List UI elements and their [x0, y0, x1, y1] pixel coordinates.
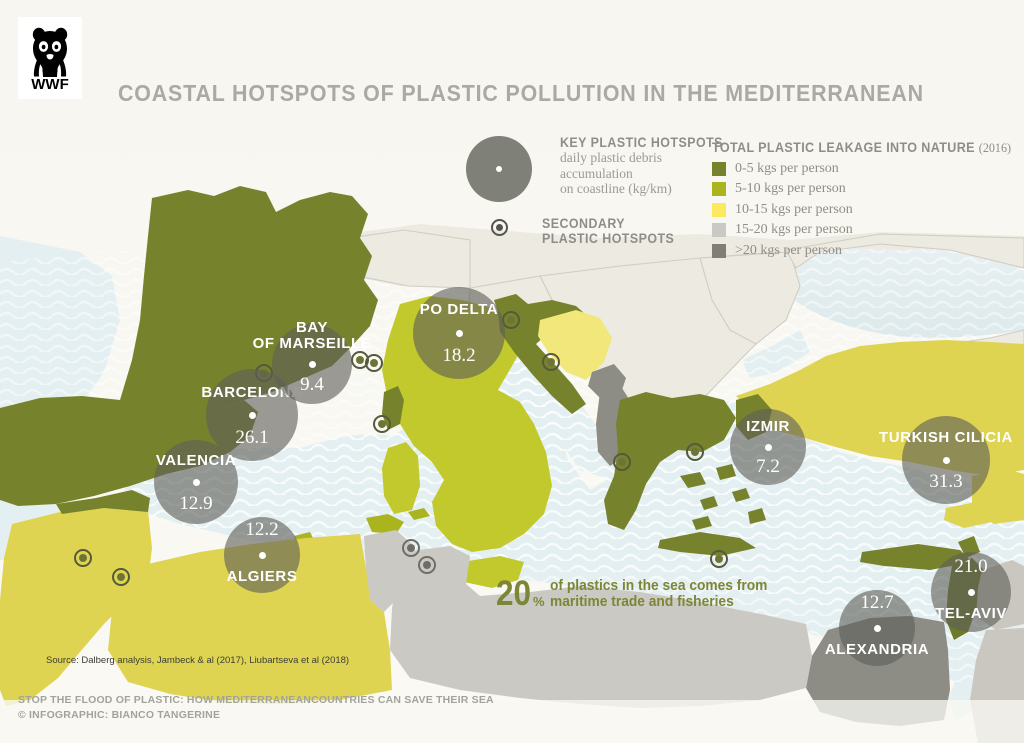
center-dot-icon — [496, 166, 502, 172]
dot-icon — [356, 356, 364, 364]
leakage-legend: TOTAL PLASTIC LEAKAGE INTO NATURE (2016)… — [712, 140, 1024, 259]
hotspot-label-line-2: OF MARSEILLE — [253, 335, 372, 352]
secondary-plastic-hotspot-icon — [491, 219, 508, 236]
hotspot-value: 7.2 — [756, 456, 780, 478]
hotspot-label: VALENCIA — [156, 453, 236, 469]
annotation-number: 20 — [496, 578, 531, 609]
dot-icon — [378, 420, 386, 428]
dot-icon — [547, 358, 555, 366]
hotspot-center-dot — [874, 625, 881, 632]
footer-credit-line: © INFOGRAPHIC: BIANCO TANGERINE — [18, 708, 494, 723]
dot-icon — [407, 544, 415, 552]
secondary-hotspot-marker[interactable] — [74, 549, 92, 567]
key-secondary-text: SECONDARY PLASTIC HOTSPOTS — [542, 216, 686, 246]
key-legend: KEY PLASTIC HOTSPOTS daily plastic debri… — [466, 132, 737, 246]
leakage-legend-year: (2016) — [979, 140, 1011, 155]
hotspot-label: TURKISH CILICIA — [879, 430, 1013, 446]
dot-icon — [507, 316, 515, 324]
secondary-hotspot-marker[interactable] — [402, 539, 420, 557]
leakage-legend-title-text: TOTAL PLASTIC LEAKAGE INTO NATURE — [712, 140, 975, 155]
hotspot-center-dot — [968, 589, 975, 596]
secondary-hotspot-marker[interactable] — [365, 354, 383, 372]
wwf-wordmark: WWF — [31, 76, 68, 91]
hotspot-label: TEL-AVIV — [935, 606, 1007, 622]
hotspot-center-dot — [765, 444, 772, 451]
dot-icon — [715, 555, 723, 563]
key-secondary-title-2: PLASTIC HOTSPOTS — [542, 231, 674, 246]
secondary-hotspot-marker[interactable] — [373, 415, 391, 433]
hotspot-value: 26.1 — [235, 427, 268, 449]
secondary-hotspot-marker[interactable] — [112, 568, 130, 586]
key-primary-desc-2: accumulation — [560, 167, 737, 182]
hotspot-center-dot — [309, 361, 316, 368]
key-primary-text: KEY PLASTIC HOTSPOTS daily plastic debri… — [560, 132, 737, 197]
hotspot-center-dot — [259, 552, 266, 559]
legend-swatch-15-20 — [712, 223, 726, 237]
key-primary-row: KEY PLASTIC HOTSPOTS daily plastic debri… — [466, 132, 737, 202]
footer-campaign-line: STOP THE FLOOD OF PLASTIC: HOW MEDITERRA… — [18, 693, 494, 708]
leakage-legend-item: 10-15 kgs per person — [712, 202, 1024, 218]
maritime-trade-annotation: 20 % of plastics in the sea comes from m… — [496, 578, 778, 610]
key-primary-desc-1: daily plastic debris — [560, 151, 737, 166]
leakage-legend-item: >20 kgs per person — [712, 243, 1024, 259]
hotspot-center-dot — [943, 457, 950, 464]
key-secondary-row: SECONDARY PLASTIC HOTSPOTS — [466, 216, 737, 246]
hotspot-center-dot — [249, 412, 256, 419]
secondary-hotspot-marker[interactable] — [686, 443, 704, 461]
annotation-line-1: of plastics in the sea comes from — [550, 579, 767, 595]
legend-swatch-over-20 — [712, 244, 726, 258]
key-plastic-hotspot-icon — [466, 136, 532, 202]
key-primary-title: KEY PLASTIC HOTSPOTS — [560, 135, 723, 150]
annotation-line-2: maritime trade and fisheries — [550, 595, 767, 611]
legend-label-over-20: >20 kgs per person — [735, 243, 842, 259]
dot-icon — [691, 448, 699, 456]
hotspot-value: 21.0 — [954, 556, 987, 578]
secondary-hotspot-marker[interactable] — [542, 353, 560, 371]
hotspot-label: ALEXANDRIA — [825, 642, 929, 658]
hotspot-label: IZMIR — [746, 419, 790, 435]
secondary-hotspot-marker[interactable] — [710, 550, 728, 568]
legend-label-5-10: 5-10 kgs per person — [735, 181, 846, 197]
annotation-percent-sign: % — [533, 594, 545, 609]
key-primary-desc-3: on coastline (kg/km) — [560, 182, 737, 197]
secondary-hotspot-marker[interactable] — [613, 453, 631, 471]
leakage-legend-item: 5-10 kgs per person — [712, 181, 1024, 197]
leakage-legend-title: TOTAL PLASTIC LEAKAGE INTO NATURE (2016) — [712, 140, 1011, 156]
hotspot-value: 12.7 — [860, 592, 893, 614]
hotspot-value: 12.9 — [179, 493, 212, 515]
hotspot-label-line-1: BAY — [296, 319, 328, 336]
dot-icon — [370, 359, 378, 367]
infographic-canvas: WWF COASTAL HOTSPOTS OF PLASTIC POLLUTIO… — [0, 0, 1024, 743]
legend-swatch-5-10 — [712, 182, 726, 196]
source-note: Source: Dalberg analysis, Jambeck & al (… — [46, 655, 349, 666]
wwf-panda-logo-icon: WWF — [24, 25, 76, 91]
key-secondary-title-1: SECONDARY — [542, 216, 674, 231]
hotspot-label: BAY OF MARSEILLE — [253, 320, 372, 352]
wwf-logo: WWF — [18, 17, 82, 99]
hotspot-center-dot — [193, 479, 200, 486]
dot-icon — [423, 561, 431, 569]
legend-swatch-0-5 — [712, 162, 726, 176]
hotspot-center-dot — [456, 330, 463, 337]
annotation-text: of plastics in the sea comes from mariti… — [550, 578, 779, 610]
leakage-legend-item: 0-5 kgs per person — [712, 161, 1024, 177]
dot-icon — [79, 554, 87, 562]
legend-label-15-20: 15-20 kgs per person — [735, 222, 853, 238]
legend-label-0-5: 0-5 kgs per person — [735, 161, 839, 177]
center-dot-icon — [496, 224, 503, 231]
legend-swatch-10-15 — [712, 203, 726, 217]
hotspot-value: 12.2 — [245, 519, 278, 541]
legend-label-10-15: 10-15 kgs per person — [735, 202, 853, 218]
dot-icon — [618, 458, 626, 466]
hotspot-value: 9.4 — [300, 374, 324, 396]
hotspot-value: 18.2 — [442, 345, 475, 367]
leakage-legend-item: 15-20 kgs per person — [712, 222, 1024, 238]
dot-icon — [117, 573, 125, 581]
footer: STOP THE FLOOD OF PLASTIC: HOW MEDITERRA… — [18, 693, 494, 723]
hotspot-label: ALGIERS — [227, 569, 298, 585]
hotspot-label: PO DELTA — [420, 302, 498, 318]
secondary-hotspot-marker[interactable] — [502, 311, 520, 329]
page-title: COASTAL HOTSPOTS OF PLASTIC POLLUTION IN… — [118, 80, 924, 107]
secondary-hotspot-marker[interactable] — [418, 556, 436, 574]
hotspot-value: 31.3 — [929, 471, 962, 493]
